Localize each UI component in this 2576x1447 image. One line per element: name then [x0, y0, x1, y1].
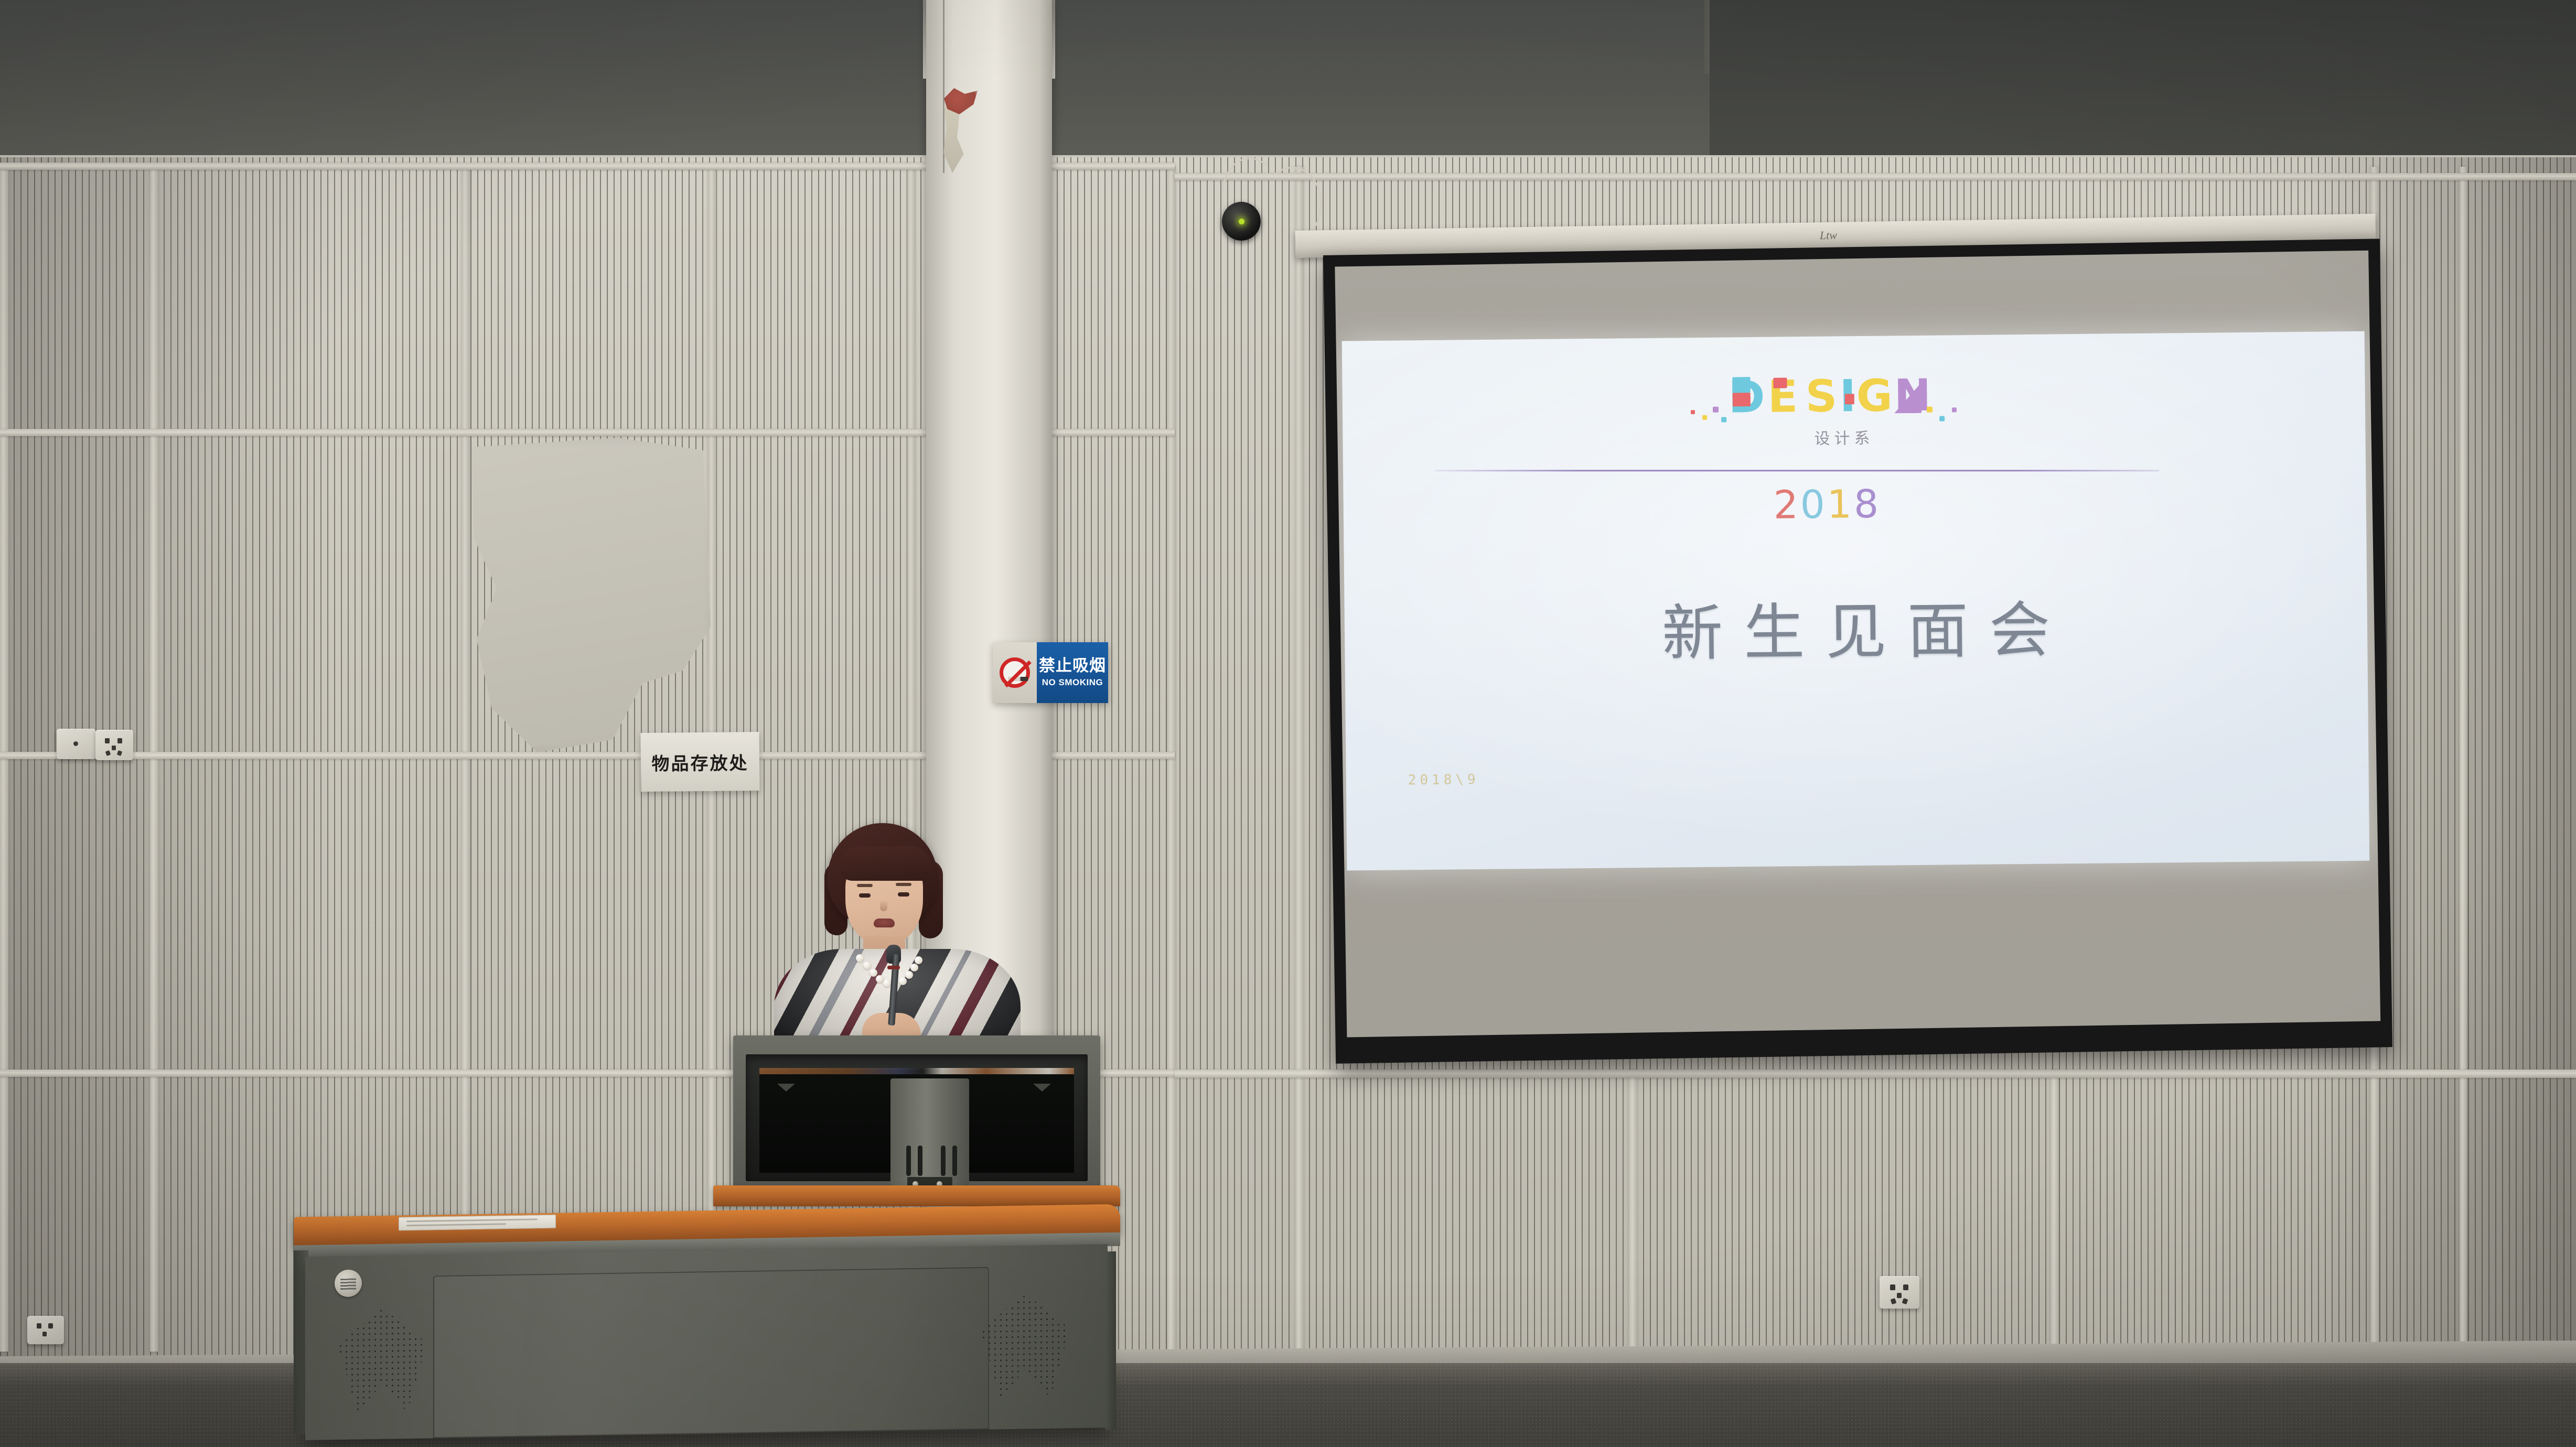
mouth — [874, 919, 895, 927]
speaker-grille-left — [338, 1307, 427, 1413]
logo-confetti-dot — [1702, 415, 1707, 420]
power-socket-left[interactable] — [95, 730, 133, 760]
presenter — [750, 823, 1075, 1064]
logo-confetti-dot — [1691, 410, 1695, 414]
year-digit-2: 0 — [1800, 482, 1827, 527]
camera-sensor-icon — [1222, 202, 1261, 241]
wall-panel-seam-h — [1175, 1070, 2576, 1078]
logo-accent-square — [1773, 377, 1787, 388]
ceiling-right-section — [1710, 0, 2576, 178]
logo-confetti-dot — [1721, 417, 1726, 422]
eye-left — [859, 893, 871, 898]
lectern-right-side — [1105, 1251, 1116, 1430]
screen-brand-label: Ltw — [1820, 229, 1837, 243]
socket-hole — [112, 746, 116, 750]
storage-sign: 物品存放处 — [641, 732, 760, 792]
camera-led-indicator — [1239, 219, 1244, 224]
monitor-mount-bracket — [890, 1078, 969, 1199]
socket-hole — [1897, 1293, 1902, 1298]
wall-panel-seam — [1295, 167, 1304, 1352]
slide-main-title: 新生见面会 — [1344, 578, 2368, 676]
year-digit-4: 8 — [1854, 482, 1881, 527]
wall-panel-seam — [1629, 1070, 1637, 1353]
storage-sign-label: 物品存放处 — [651, 749, 748, 775]
power-socket-floor-left[interactable] — [27, 1316, 64, 1344]
eyebrow-right — [896, 883, 911, 886]
logo-confetti-dot — [1713, 407, 1719, 413]
logo-accent-square — [1733, 393, 1751, 406]
socket-hole — [1902, 1298, 1908, 1304]
wall-panel-seam — [150, 167, 158, 1352]
lectern-badge-icon — [335, 1269, 362, 1297]
lectern-cabinet-door[interactable] — [433, 1267, 989, 1439]
lectern-body — [305, 1244, 1108, 1440]
lecture-hall-scene: 物品存放处 禁止吸烟 NO SMOKING Ltw D — [0, 0, 2576, 1447]
wall-panel-seam-h — [1175, 173, 2576, 180]
socket-hole — [1903, 1284, 1908, 1290]
eyebrow-left — [857, 884, 873, 887]
lectern-label-sticker — [399, 1215, 556, 1231]
logo-letter-g: G — [1856, 370, 1892, 421]
socket-hole — [37, 1323, 41, 1329]
wall-panel-seam — [0, 167, 8, 1352]
wall-panel-seam — [2051, 1070, 2059, 1353]
projection-screen: D E S I G N — [1323, 239, 2392, 1063]
wall-panel-seam — [2460, 167, 2467, 1352]
lectern — [294, 1035, 1175, 1447]
logo-accent-square — [1732, 377, 1750, 393]
cigarette-icon — [1008, 677, 1028, 681]
logo-confetti-dot — [1927, 407, 1933, 413]
year-digit-3: 1 — [1827, 482, 1854, 527]
lectern-display-reflection — [759, 1068, 1074, 1074]
projected-slide: D E S I G N — [1342, 331, 2370, 871]
plate-hole — [73, 741, 78, 746]
eye-right — [898, 892, 909, 897]
slide-year: 2018 — [1773, 482, 1881, 528]
slide-divider-rule — [1435, 470, 2159, 471]
chevron-down-icon — [1033, 1084, 1051, 1092]
socket-hole — [105, 738, 110, 743]
design-logo-subtitle: 设计系 — [1781, 425, 1907, 449]
slide-footer-date: 2018\9 — [1408, 772, 1479, 788]
socket-hole — [1891, 1298, 1897, 1304]
lectern-monitor-panel — [733, 1035, 1100, 1193]
socket-hole — [117, 750, 123, 756]
socket-hole — [42, 1332, 47, 1336]
wall-plate-left[interactable] — [57, 729, 95, 759]
year-digit-1: 2 — [1773, 482, 1800, 527]
power-socket-right[interactable] — [1880, 1276, 1919, 1309]
logo-confetti-dot — [1952, 407, 1957, 412]
bangs — [839, 846, 931, 881]
no-smoking-chinese: 禁止吸烟 — [1039, 658, 1106, 674]
microphone-ring — [887, 966, 900, 969]
logo-accent-square — [1845, 394, 1854, 404]
no-smoking-english: NO SMOKING — [1042, 677, 1103, 688]
logo-letter-s: S — [1805, 371, 1836, 422]
no-smoking-text-panel: 禁止吸烟 NO SMOKING — [1037, 642, 1108, 703]
socket-hole — [105, 750, 111, 756]
no-smoking-sign: 禁止吸烟 NO SMOKING — [993, 642, 1108, 703]
lectern-monitor-well — [746, 1054, 1088, 1181]
prohibition-circle-icon — [1000, 657, 1030, 688]
design-logo: D E S I G N — [1678, 370, 1972, 451]
screen-surface: D E S I G N — [1335, 251, 2380, 1038]
socket-hole — [117, 738, 122, 743]
lectern-upper-ledge — [713, 1185, 1120, 1206]
speaker-grille-right — [981, 1293, 1070, 1399]
design-wordmark: D E S I G N — [1678, 370, 1972, 423]
no-smoking-icon — [993, 642, 1037, 703]
chevron-down-icon — [777, 1084, 795, 1092]
socket-hole — [48, 1323, 53, 1329]
logo-confetti-dot — [1939, 416, 1945, 421]
nose — [880, 900, 887, 911]
socket-hole — [1890, 1284, 1895, 1290]
